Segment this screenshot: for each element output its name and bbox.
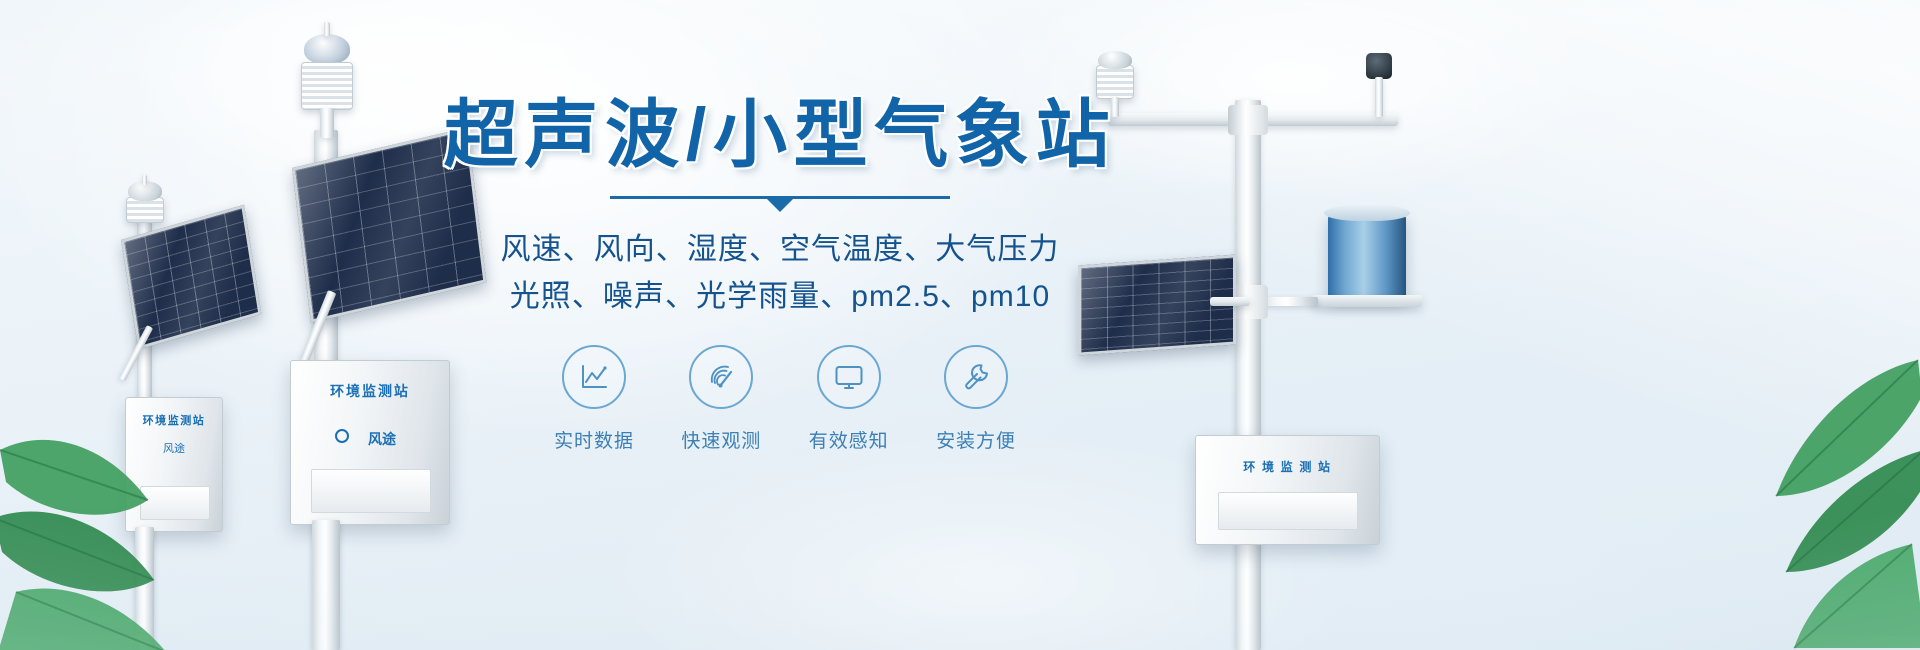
feature-item-fast-observation[interactable]: 快速观测: [667, 345, 775, 453]
rain-gauge-rim: [1324, 205, 1410, 221]
page-title: 超声波/小型气象站: [430, 96, 1130, 174]
subtitle-line-2: 光照、噪声、光学雨量、pm2.5、pm10: [430, 274, 1130, 320]
enclosure-box: 环境监测站 风途: [125, 397, 223, 532]
title-divider: [610, 196, 950, 210]
feature-icon-ring: [817, 345, 881, 409]
subtitle-line-1: 风速、风向、湿度、空气温度、大气压力: [430, 227, 1130, 273]
feature-label: 有效感知: [795, 426, 903, 453]
mast-base: [312, 520, 340, 650]
wind-vane-stem: [324, 22, 330, 36]
enclosure-box: 环 境 监 测 站: [1195, 435, 1380, 545]
radiation-shield: [301, 62, 353, 110]
wind-vane-stem: [1375, 77, 1383, 117]
panel-mount-arm: [1210, 297, 1250, 306]
line-chart-icon: [577, 360, 611, 394]
equipment-shelf: [1312, 295, 1422, 307]
feature-item-effective-sensing[interactable]: 有效感知: [795, 345, 903, 453]
shield-stem: [320, 108, 334, 138]
sensor-stem: [142, 175, 147, 185]
wrench-icon: [959, 360, 993, 394]
feature-label: 实时数据: [540, 426, 648, 453]
feature-label: 安装方便: [922, 426, 1030, 453]
leaf-decoration-right: [1626, 300, 1920, 650]
brand-label: 风途: [126, 440, 222, 456]
sensor-dome: [1098, 51, 1132, 69]
ultrasonic-dome: [304, 34, 350, 64]
mast-lower: [135, 527, 154, 650]
feature-icon-ring: [689, 345, 753, 409]
banner-copy-block: 超声波/小型气象站 风速、风向、湿度、空气温度、大气压力 光照、噪声、光学雨量、…: [430, 96, 1130, 320]
product-photo-station-small: 环境监测站 风途: [95, 175, 285, 650]
feature-label: 快速观测: [667, 426, 775, 453]
feature-icon-ring: [562, 345, 626, 409]
enclosure-box: 环境监测站 风途: [290, 360, 450, 525]
monitor-screen-icon: [832, 360, 866, 394]
feature-icon-ring: [944, 345, 1008, 409]
radar-signal-icon: [704, 360, 738, 394]
enclosure-panel-face: [140, 486, 210, 520]
mast-pole: [1235, 100, 1261, 650]
feature-item-realtime-data[interactable]: 实时数据: [540, 345, 648, 453]
enclosure-panel-face: [311, 469, 431, 513]
feature-item-easy-install[interactable]: 安装方便: [922, 345, 1030, 453]
feature-list: 实时数据 快速观测 有效感知: [540, 345, 1030, 453]
product-banner: 环境监测站 风途 环境监测站 风途: [0, 0, 1920, 650]
rain-gauge: [1328, 213, 1406, 299]
brand-label: 风途: [315, 429, 449, 449]
wind-vane-head: [1366, 53, 1392, 79]
mast-collar: [1228, 105, 1268, 135]
enclosure-label: 环境监测站: [126, 412, 222, 428]
enclosure-panel-face: [1218, 492, 1358, 530]
enclosure-label: 环境监测站: [291, 381, 449, 401]
divider-triangle-icon: [767, 199, 793, 212]
enclosure-label: 环 境 监 测 站: [1196, 458, 1379, 475]
